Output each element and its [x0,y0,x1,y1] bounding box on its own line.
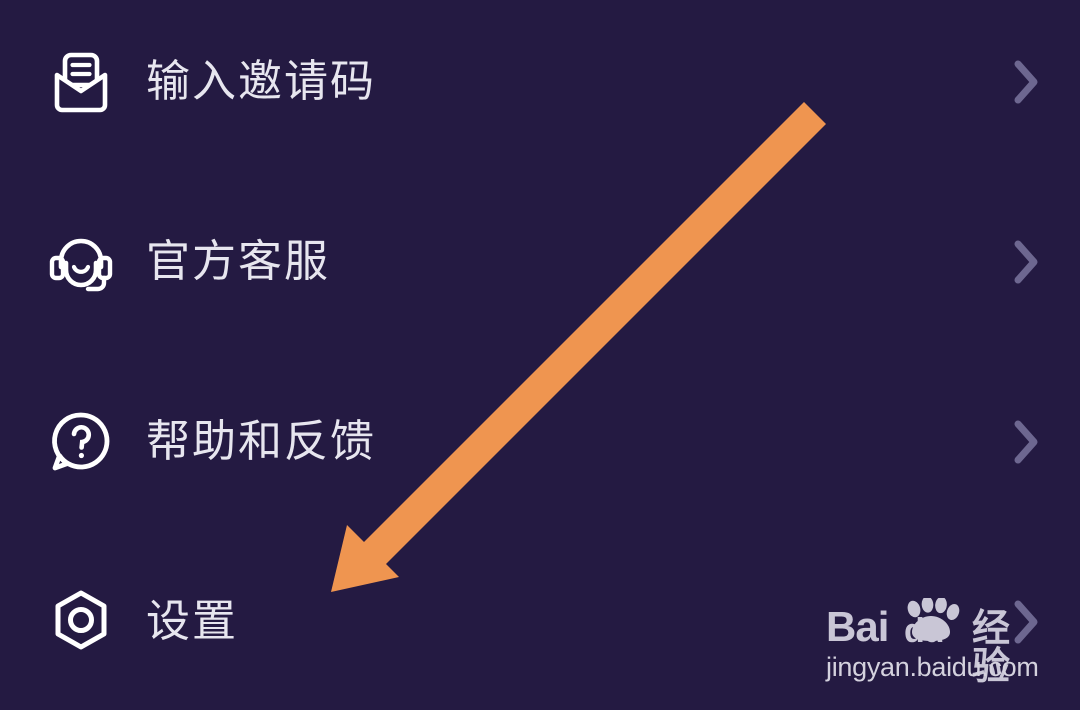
menu-item-label: 输入邀请码 [146,60,376,104]
app-screen: 输入邀请码 官方客服 [0,0,1080,710]
headset-support-icon [44,225,118,299]
baidu-jingyan-watermark: Bai du 经验 jingyan.baidu.com [826,604,1036,686]
open-envelope-icon [44,45,118,119]
menu-item-label: 设置 [146,600,238,644]
menu-item-label: 帮助和反馈 [146,420,376,464]
chevron-right-icon[interactable] [1006,236,1046,288]
menu-item-label: 官方客服 [146,240,330,284]
baidu-paw-icon [900,598,962,647]
menu-item-customer-service[interactable]: 官方客服 [0,212,1080,312]
question-bubble-icon [44,405,118,479]
chevron-right-icon[interactable] [1006,56,1046,108]
watermark-url: jingyan.baidu.com [826,654,1039,681]
chevron-right-icon[interactable] [1006,416,1046,468]
watermark-logo-row: Bai du 经验 [826,604,1036,652]
settings-hexagon-icon [44,585,118,659]
menu-item-help-feedback[interactable]: 帮助和反馈 [0,392,1080,492]
menu-item-invite-code[interactable]: 输入邀请码 [0,32,1080,132]
watermark-bai-text: Bai [826,606,888,648]
